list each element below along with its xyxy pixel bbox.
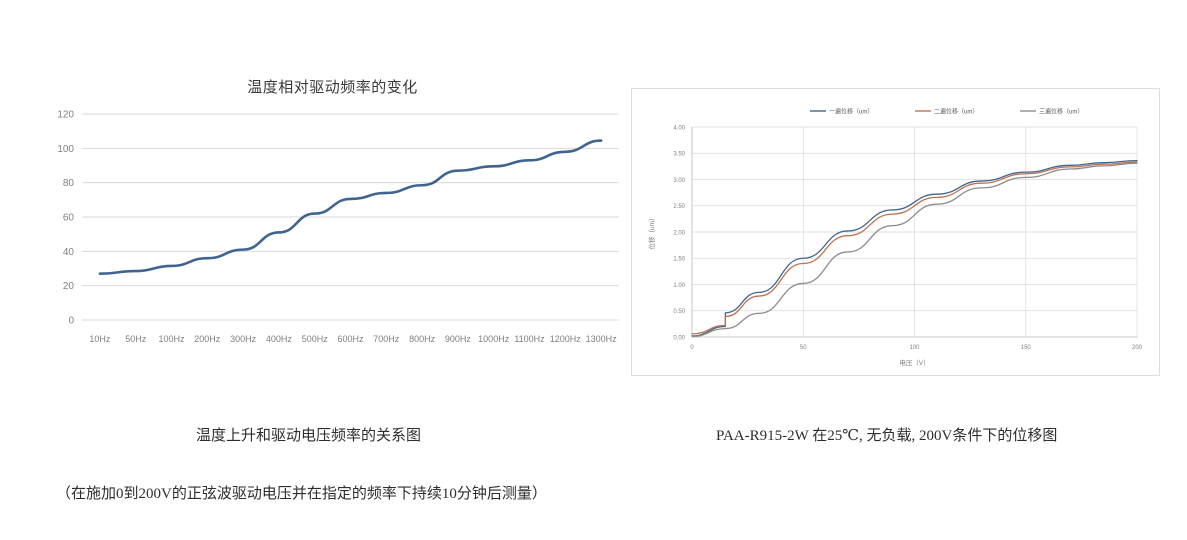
svg-text:400Hz: 400Hz [266, 334, 293, 344]
svg-text:300Hz: 300Hz [230, 334, 257, 344]
svg-text:150: 150 [1021, 345, 1032, 351]
left-chart-title: 温度相对驱动频率的变化 [40, 76, 625, 97]
svg-text:1300Hz: 1300Hz [586, 334, 618, 344]
svg-text:60: 60 [63, 213, 75, 224]
svg-text:200Hz: 200Hz [194, 334, 221, 344]
svg-text:三遍位移（um）: 三遍位移（um） [1039, 107, 1083, 115]
svg-text:800Hz: 800Hz [409, 334, 436, 344]
svg-text:50Hz: 50Hz [125, 334, 147, 344]
right-chart-legend: 一遍位移（um）二遍位移（um）三遍位移（um） [810, 107, 1083, 115]
legend-item: 一遍位移（um） [810, 107, 873, 115]
svg-text:1.50: 1.50 [673, 257, 685, 263]
caption-right-chart: PAA-R915-2W 在25℃, 无负载, 200V条件下的位移图 [716, 424, 1057, 445]
left-series-line [100, 141, 601, 274]
svg-text:100: 100 [909, 345, 920, 351]
svg-text:20: 20 [63, 281, 75, 292]
svg-text:900Hz: 900Hz [445, 334, 472, 344]
svg-text:100: 100 [57, 144, 74, 155]
right-y-tick-labels: 0.000.501.001.502.002.503.003.504.00 [673, 125, 685, 341]
svg-text:200: 200 [1132, 345, 1143, 351]
svg-text:1000Hz: 1000Hz [478, 334, 510, 344]
svg-text:0: 0 [690, 345, 694, 351]
svg-text:1200Hz: 1200Hz [550, 334, 582, 344]
caption-left-chart: 温度上升和驱动电压频率的关系图 [196, 424, 421, 445]
svg-text:40: 40 [63, 247, 75, 258]
right-chart-svg: 一遍位移（um）二遍位移（um）三遍位移（um） 0.000.501.001.5… [632, 89, 1159, 375]
svg-text:100Hz: 100Hz [158, 334, 185, 344]
svg-text:0.50: 0.50 [673, 309, 685, 315]
right-x-tick-labels: 050100150200 [690, 345, 1142, 351]
left-gridlines [82, 114, 619, 320]
svg-text:500Hz: 500Hz [302, 334, 329, 344]
page-root: 温度相对驱动频率的变化 020406080100120 10Hz50Hz100H… [0, 0, 1187, 540]
svg-text:二遍位移（um）: 二遍位移（um） [934, 107, 978, 115]
caption-measurement-note: （在施加0到200V的正弦波驱动电压并在指定的频率下持续10分钟后测量） [56, 482, 547, 503]
displacement-voltage-chart: 一遍位移（um）二遍位移（um）三遍位移（um） 0.000.501.001.5… [631, 88, 1160, 376]
svg-text:120: 120 [57, 110, 74, 121]
right-y-axis-title: 位移（um） [647, 214, 656, 249]
svg-text:4.00: 4.00 [673, 125, 685, 131]
svg-text:3.00: 3.00 [673, 178, 685, 184]
legend-item: 二遍位移（um） [915, 107, 978, 115]
svg-text:0.00: 0.00 [673, 335, 685, 341]
svg-text:1100Hz: 1100Hz [514, 334, 545, 344]
left-x-tick-labels: 10Hz50Hz100Hz200Hz300Hz400Hz500Hz600Hz70… [89, 334, 617, 344]
right-x-axis-title: 电压（V） [899, 358, 929, 367]
right-gridlines [692, 127, 1137, 337]
svg-text:80: 80 [63, 178, 75, 189]
temperature-frequency-chart: 温度相对驱动频率的变化 020406080100120 10Hz50Hz100H… [40, 70, 625, 365]
left-chart-svg: 020406080100120 10Hz50Hz100Hz200Hz300Hz4… [40, 104, 625, 366]
svg-text:50: 50 [800, 345, 807, 351]
svg-text:2.50: 2.50 [673, 204, 685, 210]
legend-item: 三遍位移（um） [1020, 107, 1083, 115]
svg-text:1.00: 1.00 [673, 283, 685, 289]
svg-text:2.00: 2.00 [673, 230, 685, 236]
svg-text:3.50: 3.50 [673, 152, 685, 158]
svg-text:600Hz: 600Hz [337, 334, 364, 344]
svg-text:0: 0 [68, 316, 74, 327]
left-chart-plot-area: 020406080100120 10Hz50Hz100Hz200Hz300Hz4… [40, 104, 625, 366]
left-y-tick-labels: 020406080100120 [57, 110, 74, 327]
svg-text:10Hz: 10Hz [89, 334, 111, 344]
svg-text:一遍位移（um）: 一遍位移（um） [829, 107, 873, 115]
svg-text:700Hz: 700Hz [373, 334, 400, 344]
